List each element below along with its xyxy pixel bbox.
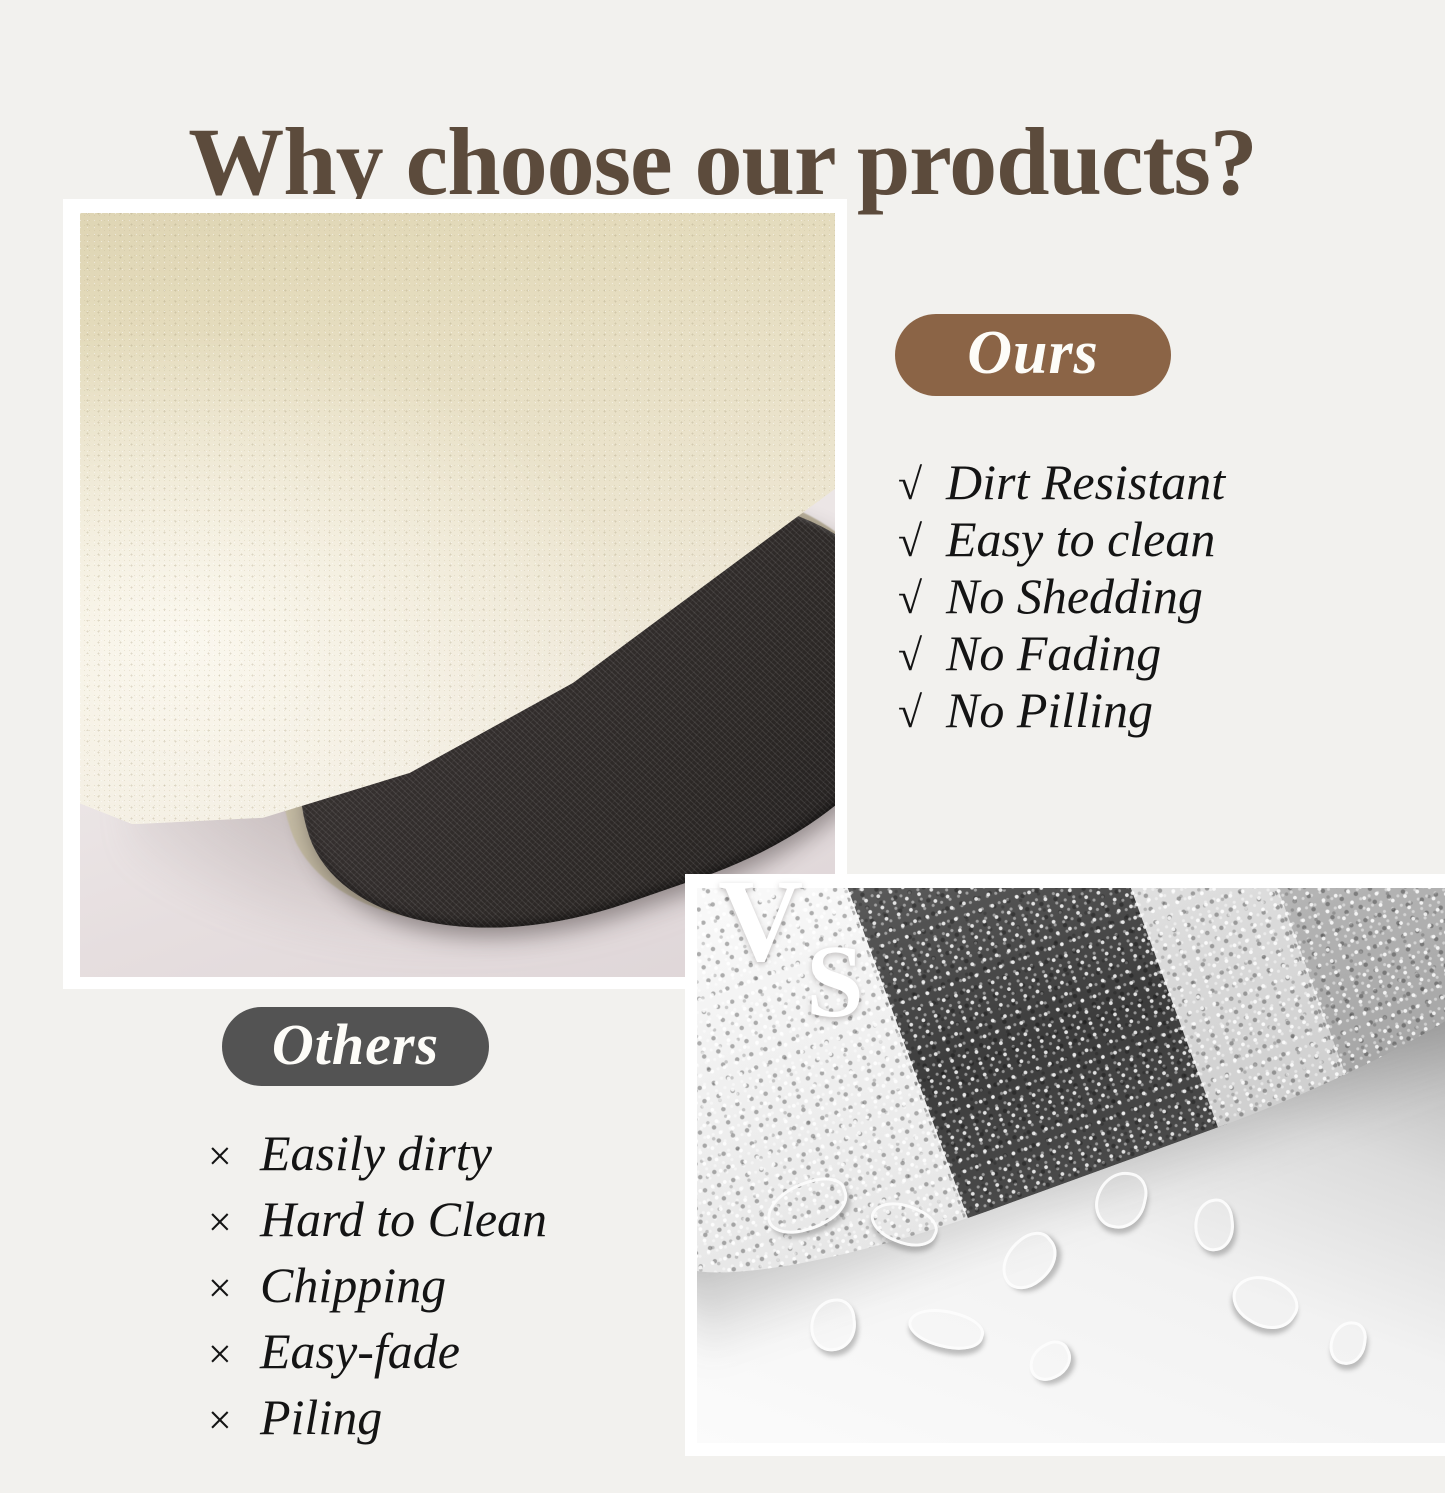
list-item: √ No Pilling (898, 683, 1225, 740)
list-item: √ No Fading (898, 626, 1225, 683)
list-item-label: Chipping (260, 1254, 446, 1316)
ours-badge: Ours (895, 314, 1171, 396)
list-item-label: Piling (260, 1386, 382, 1448)
check-icon: √ (898, 457, 946, 512)
cross-icon: × (208, 1126, 260, 1188)
list-item-label: No Fading (946, 626, 1161, 681)
list-item: × Chipping (208, 1254, 547, 1320)
cross-icon: × (208, 1192, 260, 1254)
list-item-label: Dirt Resistant (946, 455, 1225, 510)
check-icon: √ (898, 628, 946, 683)
list-item: × Piling (208, 1386, 547, 1452)
check-icon: √ (898, 514, 946, 569)
list-item: × Hard to Clean (208, 1188, 547, 1254)
list-item: × Easy-fade (208, 1320, 547, 1386)
list-item: √ No Shedding (898, 569, 1225, 626)
check-icon: √ (898, 685, 946, 740)
list-item-label: No Shedding (946, 569, 1203, 624)
page-title: Why choose our products? (0, 112, 1445, 213)
cross-icon: × (208, 1324, 260, 1386)
vs-letter-s: S (806, 930, 864, 1034)
others-badge: Others (222, 1007, 489, 1086)
ours-feature-list: √ Dirt Resistant √ Easy to clean √ No Sh… (898, 455, 1225, 740)
list-item-label: Easily dirty (260, 1122, 492, 1184)
list-item: √ Easy to clean (898, 512, 1225, 569)
check-icon: √ (898, 571, 946, 626)
vs-letter-v: V (718, 862, 803, 980)
others-feature-list: × Easily dirty × Hard to Clean × Chippin… (208, 1122, 547, 1452)
cross-icon: × (208, 1258, 260, 1320)
cross-icon: × (208, 1390, 260, 1452)
list-item: √ Dirt Resistant (898, 455, 1225, 512)
list-item: × Easily dirty (208, 1122, 547, 1188)
list-item-label: Hard to Clean (260, 1188, 547, 1250)
list-item-label: Easy to clean (946, 512, 1215, 567)
list-item-label: No Pilling (946, 683, 1153, 738)
list-item-label: Easy-fade (260, 1320, 460, 1382)
